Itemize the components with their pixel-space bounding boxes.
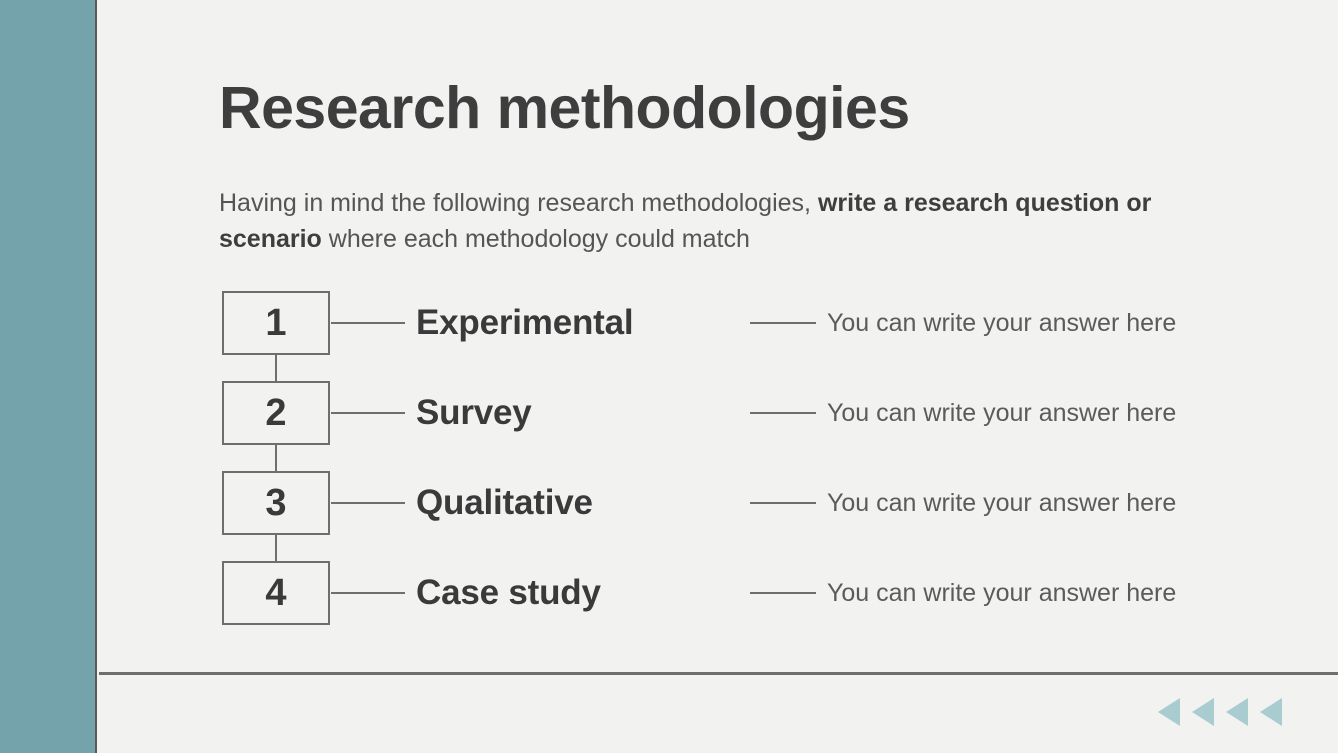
footer-nav-arrows <box>1158 698 1282 726</box>
answer-placeholder-text[interactable]: You can write your answer here <box>827 381 1176 445</box>
methodology-number-box: 2 <box>222 381 330 445</box>
methodology-row: 3QualitativeYou can write your answer he… <box>0 471 1338 535</box>
nav-arrow-left-2-icon[interactable] <box>1192 698 1214 726</box>
answer-connector-dash <box>750 502 816 504</box>
methodology-number: 3 <box>265 484 286 522</box>
answer-connector-dash <box>750 322 816 324</box>
nav-arrow-left-1-icon[interactable] <box>1158 698 1180 726</box>
methodology-number-box: 3 <box>222 471 330 535</box>
methodology-number: 4 <box>265 574 286 612</box>
answer-connector-dash <box>750 412 816 414</box>
methodology-label: Case study <box>416 561 601 625</box>
answer-placeholder-text[interactable]: You can write your answer here <box>827 471 1176 535</box>
methodology-row: 4Case studyYou can write your answer her… <box>0 561 1338 625</box>
answer-placeholder-text[interactable]: You can write your answer here <box>827 561 1176 625</box>
label-connector-dash <box>331 592 405 594</box>
nav-arrow-left-3-icon[interactable] <box>1226 698 1248 726</box>
label-connector-dash <box>331 502 405 504</box>
methodology-label: Survey <box>416 381 532 445</box>
answer-connector-dash <box>750 592 816 594</box>
box-connector-line <box>275 535 277 561</box>
methodology-number-box: 4 <box>222 561 330 625</box>
answer-placeholder-text[interactable]: You can write your answer here <box>827 291 1176 355</box>
nav-arrow-left-4-icon[interactable] <box>1260 698 1282 726</box>
methodology-label: Qualitative <box>416 471 593 535</box>
box-connector-line <box>275 445 277 471</box>
methodology-number: 2 <box>265 394 286 432</box>
box-connector-line <box>275 355 277 381</box>
methodology-label: Experimental <box>416 291 633 355</box>
methodology-list: 1ExperimentalYou can write your answer h… <box>0 0 1338 753</box>
methodology-row: 1ExperimentalYou can write your answer h… <box>0 291 1338 355</box>
methodology-number: 1 <box>265 304 286 342</box>
label-connector-dash <box>331 322 405 324</box>
slide-canvas: Research methodologies Having in mind th… <box>0 0 1338 753</box>
methodology-number-box: 1 <box>222 291 330 355</box>
label-connector-dash <box>331 412 405 414</box>
methodology-row: 2SurveyYou can write your answer here <box>0 381 1338 445</box>
